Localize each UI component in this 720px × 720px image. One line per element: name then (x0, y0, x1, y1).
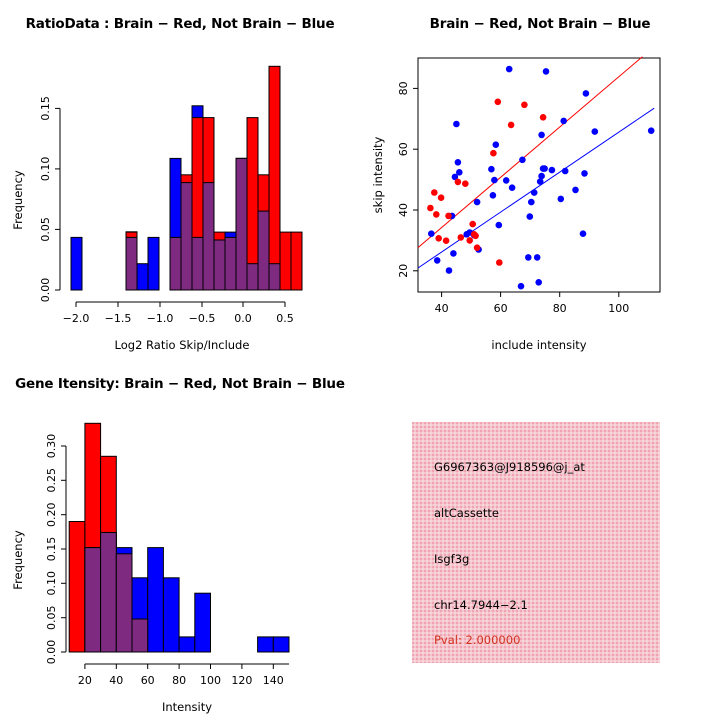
data-point-blue (538, 173, 545, 180)
ratio-histogram-xlabel: Log2 Ratio Skip/Include (115, 338, 250, 352)
data-point-blue (534, 254, 541, 261)
data-point-red (490, 150, 497, 157)
intensity-scatter-panel: Brain − Red, Not Brain − Blue (360, 0, 720, 360)
scatter-xaxis: 40 60 80 100 include intensity (435, 292, 630, 352)
bar-red (280, 232, 291, 290)
bar-overlap (203, 183, 214, 290)
bar-overlap (116, 554, 132, 652)
info-gene-symbol: Isgf3g (434, 552, 469, 566)
ytick-label: 20 (397, 264, 410, 278)
scatter-ylabel: skip intensity (371, 136, 385, 213)
bar-blue (258, 637, 274, 652)
data-point-blue (572, 187, 579, 194)
xtick-label: 40 (435, 302, 449, 315)
intensity-scatter-svg: 20 40 60 80 skip intensity 40 60 80 100 … (360, 0, 720, 360)
gene-histogram-title: Gene Itensity: Brain − Red, Not Brain − … (0, 376, 360, 392)
bar-blue (148, 548, 164, 652)
bar-overlap (170, 237, 181, 290)
data-point-red (433, 211, 440, 218)
bar-overlap (269, 264, 280, 290)
xtick-label: 60 (494, 302, 508, 315)
bar-overlap (225, 237, 236, 290)
xtick-label: 100 (608, 302, 629, 315)
data-point-red (469, 221, 476, 228)
xtick-label: 0.0 (234, 312, 252, 325)
data-point-blue (560, 118, 567, 125)
bar-overlap (85, 548, 101, 652)
data-point-blue (562, 168, 569, 175)
data-point-blue (541, 165, 548, 172)
data-point-red (521, 102, 528, 109)
data-point-blue (519, 157, 526, 164)
data-point-blue (549, 167, 556, 174)
data-point-red (427, 205, 434, 212)
gene-histogram-panel: Gene Itensity: Brain − Red, Not Brain − … (0, 360, 360, 720)
gene-histogram-yaxis: 0.00 0.05 0.10 0.15 0.20 0.25 0.30 Frequ… (11, 434, 66, 665)
data-point-red (474, 244, 481, 251)
data-point-red (466, 237, 473, 244)
ratio-histogram-svg: 0.00 0.05 0.10 0.15 Frequency −2.0 −1.5 … (0, 0, 360, 360)
data-point-red (508, 122, 515, 129)
data-point-red (443, 237, 450, 244)
bar-overlap (132, 619, 148, 652)
ratio-histogram-bars (71, 66, 302, 290)
ytick-label: 40 (397, 203, 410, 217)
fitline-blue (418, 108, 654, 268)
bar-red (269, 66, 280, 290)
data-point-blue (509, 184, 516, 191)
ytick-label: 0.10 (39, 157, 52, 182)
ratio-histogram-panel: RatioData : Brain − Red, Not Brain − Blu… (0, 0, 360, 360)
data-point-blue (490, 192, 497, 199)
data-point-blue (496, 222, 503, 229)
scatter-fit-lines (418, 57, 654, 268)
info-event-type: altCassette (434, 506, 499, 520)
data-point-blue (531, 189, 538, 196)
gene-histogram-svg: 0.00 0.05 0.10 0.15 0.20 0.25 0.30 Frequ… (0, 360, 360, 720)
bar-overlap (181, 183, 192, 290)
ratio-histogram-yaxis: 0.00 0.05 0.10 0.15 Frequency (11, 96, 60, 302)
xtick-label: 120 (231, 674, 252, 687)
xtick-label: 0.5 (276, 312, 294, 325)
data-point-blue (488, 166, 495, 173)
data-point-blue (446, 267, 453, 274)
ytick-label: 0.25 (45, 468, 58, 493)
data-point-blue (535, 279, 542, 286)
scatter-points-red (427, 99, 546, 266)
bar-overlap (126, 237, 137, 290)
data-point-blue (503, 177, 510, 184)
info-pval: Pval: 2.000000 (434, 633, 520, 647)
data-point-red (495, 99, 502, 106)
data-point-red (540, 114, 547, 121)
ytick-label: 0.05 (45, 605, 58, 630)
ytick-label: 80 (397, 81, 410, 95)
ytick-label: 0.05 (39, 217, 52, 242)
data-point-blue (527, 213, 534, 220)
bar-red (69, 522, 85, 653)
xtick-label: −1.0 (147, 312, 174, 325)
ytick-label: 0.15 (39, 96, 52, 121)
bar-overlap (101, 533, 117, 653)
data-point-blue (580, 230, 587, 237)
data-point-blue (493, 141, 500, 148)
ytick-label: 60 (397, 142, 410, 156)
bar-overlap (247, 264, 258, 290)
bar-overlap (258, 211, 269, 290)
gene-info-box: G6967363@J918596@j_at altCassette Isgf3g… (412, 422, 660, 663)
gene-histogram-xaxis: 20 40 60 80 100 120 140 Intensity (78, 664, 289, 714)
data-point-red (438, 194, 445, 201)
xtick-label: 100 (200, 674, 221, 687)
bar-blue (273, 637, 289, 652)
data-point-red (435, 235, 442, 242)
data-point-blue (474, 199, 481, 206)
data-point-red (431, 189, 438, 196)
data-point-blue (581, 170, 588, 177)
data-point-blue (434, 257, 441, 264)
bar-blue (148, 237, 159, 290)
gene-info-panel: G6967363@J918596@j_at altCassette Isgf3g… (360, 360, 720, 720)
data-point-blue (543, 68, 550, 75)
data-point-blue (592, 128, 599, 135)
data-point-blue (506, 66, 513, 73)
xtick-label: 60 (141, 674, 155, 687)
data-point-blue (648, 127, 655, 134)
ytick-label: 0.00 (45, 640, 58, 665)
data-point-red (462, 180, 469, 187)
xtick-label: −1.5 (105, 312, 132, 325)
data-point-blue (558, 196, 565, 203)
xtick-label: 140 (263, 674, 284, 687)
ytick-label: 0.30 (45, 434, 58, 459)
bar-overlap (236, 158, 247, 290)
data-point-red (458, 234, 465, 241)
gene-histogram-xlabel: Intensity (162, 700, 212, 714)
data-point-red (496, 259, 503, 266)
ytick-label: 0.10 (45, 571, 58, 596)
bar-blue (137, 264, 148, 290)
ratio-histogram-ylabel: Frequency (11, 170, 25, 230)
info-locus: chr14.7944−2.1 (434, 598, 528, 612)
info-probe-id: G6967363@J918596@j_at (434, 460, 585, 474)
data-point-blue (455, 159, 462, 166)
data-point-blue (456, 169, 463, 176)
scatter-points-blue (428, 66, 655, 290)
scatter-yaxis: 20 40 60 80 skip intensity (371, 81, 418, 277)
gene-histogram-bars (69, 423, 289, 652)
bar-overlap (192, 237, 203, 290)
data-point-blue (450, 250, 457, 257)
ytick-label: 0.00 (39, 278, 52, 303)
data-point-red (455, 179, 462, 186)
data-point-blue (538, 132, 545, 139)
ratio-histogram-xaxis: −2.0 −1.5 −1.0 −0.5 0.0 0.5 Log2 Ratio S… (63, 302, 294, 352)
data-point-blue (453, 121, 460, 128)
ratio-histogram-title: RatioData : Brain − Red, Not Brain − Blu… (0, 16, 360, 32)
ytick-label: 0.20 (45, 502, 58, 527)
data-point-blue (491, 177, 498, 184)
data-point-blue (537, 178, 544, 185)
data-point-blue (428, 230, 435, 237)
intensity-scatter-title: Brain − Red, Not Brain − Blue (360, 16, 720, 32)
xtick-label: 80 (553, 302, 567, 315)
data-point-blue (518, 283, 525, 290)
bar-blue (163, 578, 179, 652)
data-point-blue (525, 254, 532, 261)
xtick-label: −2.0 (63, 312, 90, 325)
data-point-blue (583, 90, 590, 97)
xtick-label: 20 (78, 674, 92, 687)
data-point-blue (528, 199, 535, 206)
data-point-red (472, 233, 479, 240)
scatter-xlabel: include intensity (491, 338, 586, 352)
bar-overlap (214, 240, 225, 290)
xtick-label: 40 (109, 674, 123, 687)
xtick-label: 80 (172, 674, 186, 687)
gene-histogram-ylabel: Frequency (11, 530, 25, 590)
bar-blue (71, 237, 82, 290)
bar-blue (179, 637, 195, 652)
xtick-label: −0.5 (189, 312, 216, 325)
bar-red (291, 232, 302, 290)
ytick-label: 0.15 (45, 537, 58, 562)
data-point-red (445, 213, 452, 220)
bar-blue (195, 593, 211, 652)
